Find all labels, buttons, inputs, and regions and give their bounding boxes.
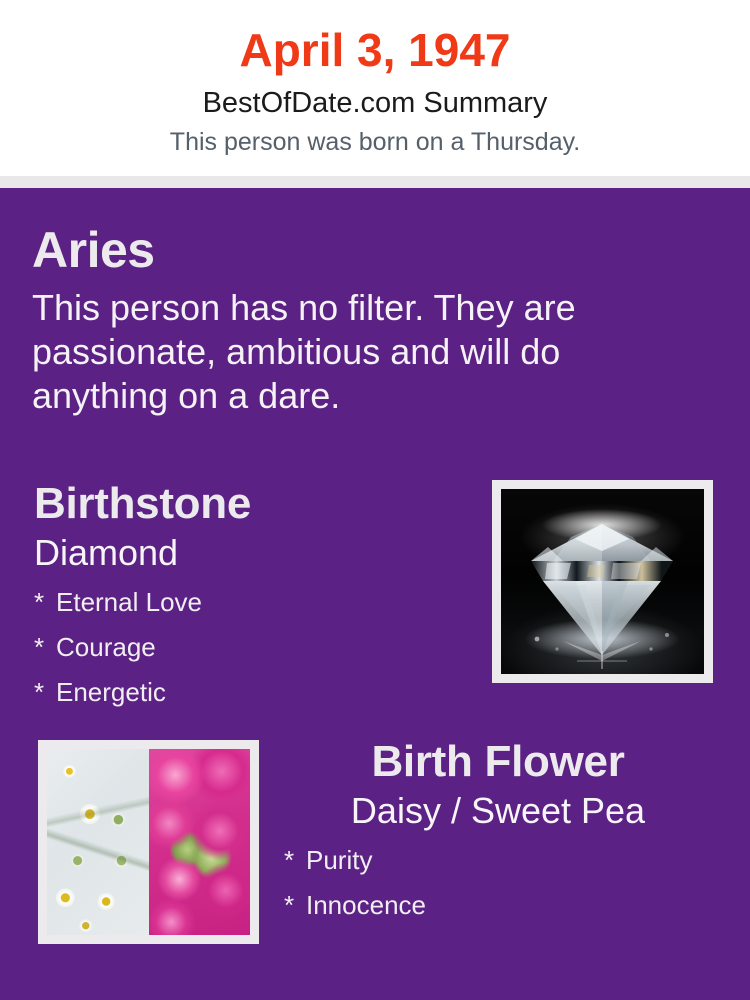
diamond-photo (501, 489, 704, 674)
list-item: *Energetic (34, 670, 464, 715)
daisy-photo (47, 749, 149, 935)
zodiac-section: Aries This person has no filter. They ar… (32, 220, 652, 418)
trait-label: Eternal Love (56, 587, 202, 617)
trait-label: Courage (56, 632, 156, 662)
bullet-star-icon: * (34, 625, 56, 670)
weekday-note: This person was born on a Thursday. (0, 126, 750, 158)
bullet-star-icon: * (284, 883, 306, 928)
zodiac-sign-title: Aries (32, 220, 652, 280)
bullet-star-icon: * (284, 838, 306, 883)
birthstone-trait-list: *Eternal Love *Courage *Energetic (34, 580, 464, 715)
bullet-star-icon: * (34, 670, 56, 715)
diamond-icon (501, 489, 704, 674)
trait-label: Innocence (306, 890, 426, 920)
summary-page: April 3, 1947 BestOfDate.com Summary Thi… (0, 0, 750, 1000)
sweet-pea-photo (149, 749, 251, 935)
list-item: *Innocence (284, 883, 718, 928)
birth-flower-section: Birth Flower Daisy / Sweet Pea *Purity *… (278, 736, 718, 928)
birth-flower-trait-list: *Purity *Innocence (278, 838, 718, 928)
bullet-star-icon: * (34, 580, 56, 625)
birth-flower-heading: Birth Flower (278, 736, 718, 788)
zodiac-description: This person has no filter. They are pass… (32, 286, 647, 418)
page-header: April 3, 1947 BestOfDate.com Summary Thi… (0, 0, 750, 176)
birthstone-heading: Birthstone (34, 478, 464, 530)
birth-flower-name: Daisy / Sweet Pea (278, 790, 718, 832)
trait-label: Purity (306, 845, 372, 875)
site-name-subtitle: BestOfDate.com Summary (0, 85, 750, 121)
list-item: *Courage (34, 625, 464, 670)
birthstone-image-inner (501, 489, 704, 674)
birthstone-image (492, 480, 713, 683)
list-item: *Eternal Love (34, 580, 464, 625)
list-item: *Purity (284, 838, 718, 883)
header-divider (0, 176, 750, 188)
birthstone-name: Diamond (34, 532, 464, 574)
trait-label: Energetic (56, 677, 166, 707)
birth-flower-image-inner (47, 749, 250, 935)
page-title-date: April 3, 1947 (0, 22, 750, 78)
birthstone-section: Birthstone Diamond *Eternal Love *Courag… (34, 478, 464, 715)
birth-flower-image (38, 740, 259, 944)
